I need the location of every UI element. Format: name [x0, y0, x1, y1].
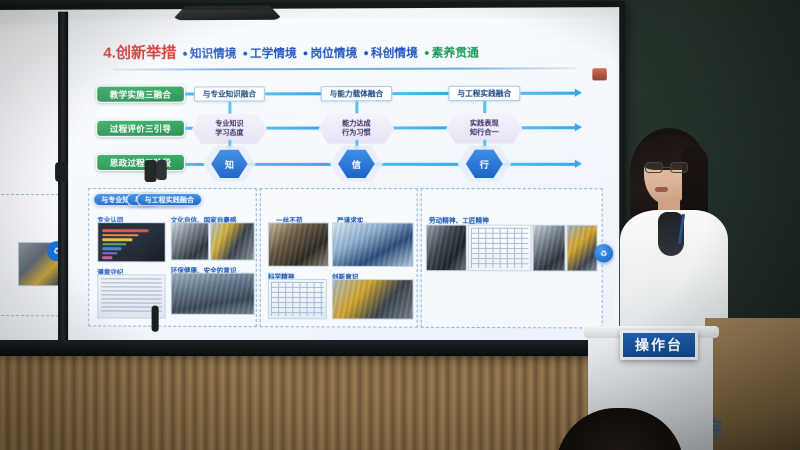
flow-arrowhead: [575, 123, 582, 131]
flow-connector: [391, 126, 450, 129]
thumb-grid: [271, 282, 324, 316]
flow-connector: [373, 163, 460, 166]
panel-2-thumb-worker: [268, 222, 329, 266]
panel-3-thumb-factory: [426, 225, 467, 272]
thumb-texture: [269, 223, 328, 265]
thumb-texture: [172, 223, 208, 259]
bullet-dot-icon: ●: [182, 49, 187, 58]
bullet-dot-icon: ●: [424, 48, 430, 57]
recycle-badge-icon: ♻: [594, 244, 613, 262]
flow-row-label-1: 教学实施三融合: [96, 86, 185, 103]
flow-arrowhead: [575, 160, 582, 168]
keyword-1-label: 知识情境: [190, 45, 237, 61]
whiteboard-left-panel: [0, 24, 59, 343]
panel-1-thumb-part: [171, 222, 209, 260]
panel-2-thumb-robot: [332, 279, 414, 320]
panel-3-sublabel-1: 劳动精神、工匠精神: [429, 214, 489, 224]
flow-hex-light-3-line2: 知行合一: [470, 128, 499, 138]
title-underline: [113, 67, 577, 70]
panel-3-header: 与工程实践融合: [136, 193, 202, 206]
panel-1-thumb-site: [171, 272, 255, 315]
flow-connector: [520, 92, 577, 95]
flow-box-3: 与工程实践融合: [448, 86, 520, 101]
bullet-dot-icon: ●: [363, 49, 369, 58]
screenshot-root: ♻ 4.创新举措 ●知识情境 ●工学情境 ●岗位情境 ●科创情境 ●素养贯通 教…: [0, 0, 800, 450]
whiteboard-divider: [58, 12, 68, 355]
keyword-2: ●工学情境: [243, 45, 297, 61]
flow-connector: [246, 163, 332, 166]
bullet-dot-icon: ●: [303, 49, 309, 58]
panel-3-thumb-table: [468, 225, 532, 272]
thumb-texture: [333, 223, 413, 266]
whiteboard-left-mount: [145, 160, 157, 182]
slide-bottom-panels: 与专业知识融合 专业认同 遵章守纪: [88, 188, 602, 336]
interactive-whiteboard[interactable]: ♻ 4.创新举措 ●知识情境 ●工学情境 ●岗位情境 ●科创情境 ●素养贯通 教…: [0, 1, 625, 353]
panel-2-thumb-cad: [268, 279, 327, 320]
flow-connector-vertical: [355, 101, 358, 115]
bullet-dot-icon: ●: [243, 49, 249, 58]
slide-canvas: 4.创新举措 ●知识情境 ●工学情境 ●岗位情境 ●科创情境 ●素养贯通 教学实…: [68, 17, 615, 349]
flow-row-label-3: 思政过程三阶段: [96, 154, 185, 171]
flow-hex-light-2-line1: 能力达成: [342, 119, 371, 129]
thumb-grid: [471, 228, 529, 269]
thumb-texture: [172, 273, 254, 314]
panel-1-thumb-machine: [210, 222, 255, 260]
glasses-icon: [645, 162, 691, 173]
flow-hex-light-1-line2: 学习态度: [215, 129, 243, 139]
presenter-mouth: [655, 187, 668, 192]
keyword-3: ●岗位情境: [303, 45, 357, 61]
flow-connector: [265, 92, 323, 95]
flow-arrowhead: [575, 89, 582, 97]
flow-connector-vertical: [228, 102, 231, 116]
keyword-3-label: 岗位情境: [310, 45, 357, 61]
keyword-1: ●知识情境: [182, 45, 236, 61]
thumb-texture: [211, 223, 254, 259]
whiteboard-pen-hook: [152, 306, 159, 332]
slide-title: 4.创新举措: [103, 41, 176, 62]
keyword-2-label: 工学情境: [250, 45, 297, 61]
keyword-5: ●素养贯通: [424, 44, 479, 60]
flow-diagram: 教学实施三融合 过程评价三引导 思政过程三阶段 与专业知识融合 与能力载体融合 …: [96, 80, 595, 182]
flow-hex-light-2-line2: 行为习惯: [342, 128, 371, 138]
keyword-5-label: 素养贯通: [432, 44, 479, 60]
panel-3-thumb-robot-arm: [567, 225, 598, 272]
panel-3-thumb-machine: [533, 225, 566, 272]
whiteboard-left-mount-2: [157, 160, 167, 180]
flow-connector: [519, 126, 577, 129]
whiteboard-top-mount: [172, 6, 283, 21]
flow-hex-light-1-line1: 专业知识: [215, 119, 243, 129]
flow-connector: [185, 163, 205, 166]
keyword-4: ●科创情境: [363, 44, 418, 60]
thumb-texture: [568, 226, 597, 271]
slide-title-row: 4.创新举措 ●知识情境 ●工学情境 ●岗位情境 ●科创情境 ●素养贯通: [103, 40, 582, 66]
flow-hex-light-3-line1: 实践表现: [470, 119, 499, 129]
podium-sign: 操作台: [620, 330, 698, 360]
thumb-texture: [427, 226, 466, 271]
whiteboard-sensor-icon: [592, 68, 606, 80]
whiteboard-bottom-rail: [0, 340, 625, 356]
thumb-bar-rows: [102, 229, 154, 256]
flow-connector: [264, 127, 323, 130]
flow-connector: [501, 163, 577, 166]
keyword-4-label: 科创情境: [371, 44, 418, 60]
thumb-texture: [534, 226, 565, 271]
flow-connector: [392, 92, 450, 95]
panel-2-thumb-lab: [332, 222, 414, 267]
flow-box-2: 与能力载体融合: [321, 86, 392, 101]
flow-row-label-2: 过程评价三引导: [96, 120, 185, 137]
thumb-texture: [333, 280, 413, 319]
flow-box-1: 与专业知识融合: [194, 86, 265, 101]
panel-1-thumb-chart: [97, 222, 165, 262]
flow-connector-vertical: [483, 101, 486, 115]
